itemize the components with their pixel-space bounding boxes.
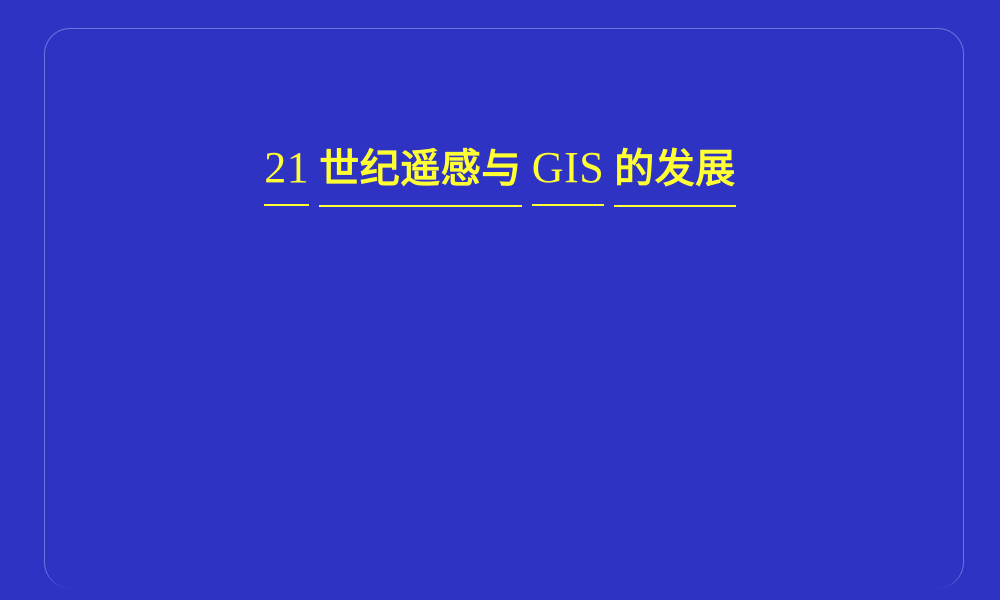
title-segment-gis: GIS (532, 140, 604, 200)
decorative-border-frame (44, 28, 964, 588)
title-segment-year: 21 (264, 140, 309, 200)
title-segment-cjk-1: 世纪遥感与 (319, 141, 522, 201)
title-block: 21世纪遥感与GIS的发展 (0, 140, 1000, 201)
title-segment-cjk-2: 的发展 (614, 141, 736, 201)
slide-title: 21世纪遥感与GIS的发展 (264, 140, 735, 201)
slide-canvas: 21世纪遥感与GIS的发展 (0, 0, 1000, 600)
